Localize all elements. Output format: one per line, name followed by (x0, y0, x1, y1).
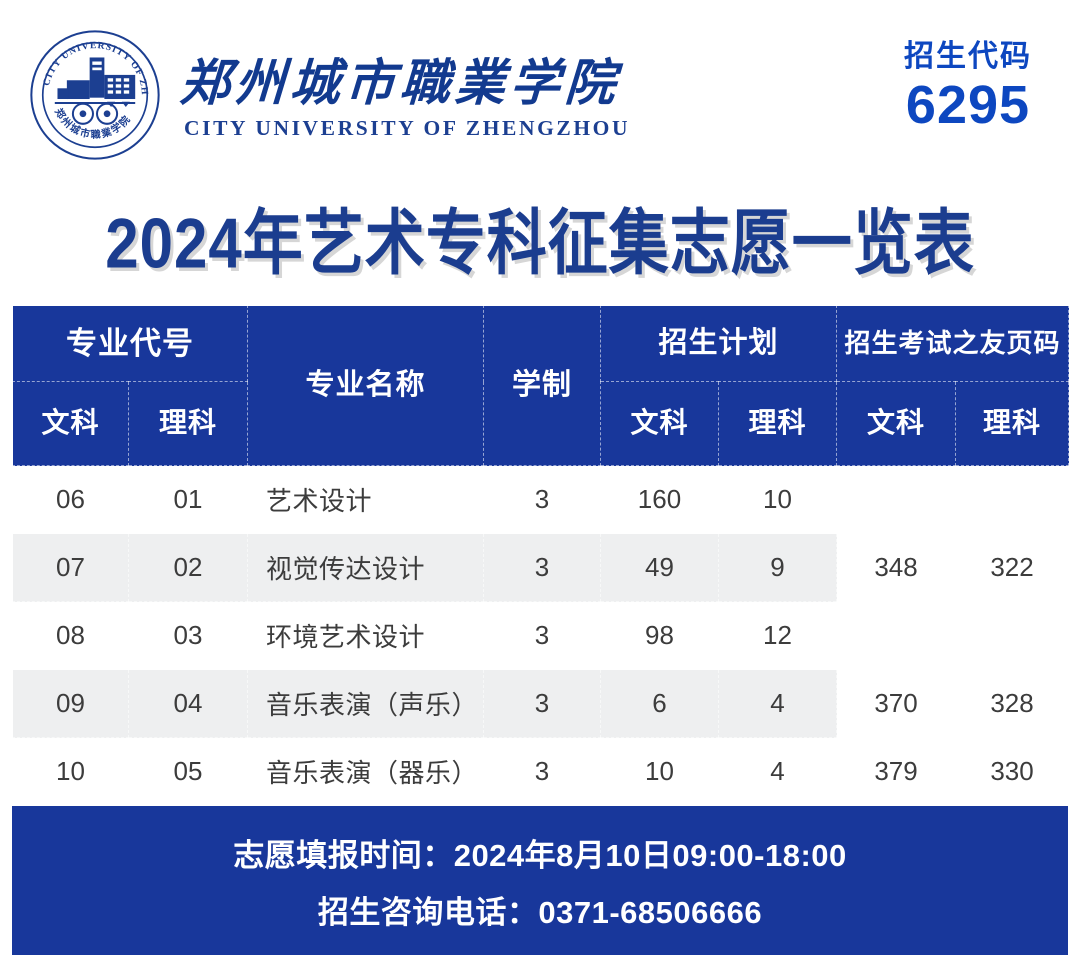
cell-page-li: 330 (956, 738, 1069, 806)
cell-plan-li: 4 (719, 738, 837, 806)
cell-plan-li: 12 (719, 602, 837, 670)
admission-code-value: 6295 (904, 78, 1032, 132)
table-body: 0601艺术设计3160103483220702视觉传达设计34990803环境… (13, 466, 1069, 806)
cell-code-li: 01 (129, 466, 248, 534)
admission-code-block: 招生代码 6295 (904, 42, 1032, 132)
cell-code-li: 02 (129, 534, 248, 602)
header-plan-wen: 文科 (601, 382, 719, 466)
masthead: CITY UNIVERSITY OF ZHENGZHOU 郑州城市職業学院 (0, 0, 1080, 175)
university-name-cn: 郑州城市職業学院 (179, 56, 632, 110)
cell-page-wen: 370 (837, 670, 956, 738)
header-page-wen: 文科 (837, 382, 956, 466)
cell-major-name: 音乐表演（声乐） (248, 670, 484, 738)
cell-study-length: 3 (484, 670, 601, 738)
cell-code-wen: 07 (13, 534, 129, 602)
cell-plan-wen: 6 (601, 670, 719, 738)
cell-code-li: 04 (129, 670, 248, 738)
cell-major-name: 视觉传达设计 (248, 534, 484, 602)
header-page-li: 理科 (956, 382, 1069, 466)
cell-plan-li: 9 (719, 534, 837, 602)
admission-code-label: 招生代码 (904, 42, 1032, 72)
table-row: 0601艺术设计316010348322 (13, 466, 1069, 534)
cell-major-name: 环境艺术设计 (248, 602, 484, 670)
header-plan-li: 理科 (719, 382, 837, 466)
cell-page-li: 322 (956, 466, 1069, 670)
header-major-code-li: 理科 (129, 382, 248, 466)
page-title: 2024年艺术专科征集志愿一览表 (0, 186, 1080, 289)
header-major-code-wen: 文科 (13, 382, 129, 466)
table-row: 0904音乐表演（声乐）364370328 (13, 670, 1069, 738)
footer-bar: 志愿填报时间：2024年8月10日09:00-18:00 招生咨询电话：0371… (12, 807, 1068, 955)
application-time-line: 志愿填报时间：2024年8月10日09:00-18:00 (233, 830, 847, 875)
poster-page: CITY UNIVERSITY OF ZHENGZHOU 郑州城市職業学院 (0, 0, 1080, 971)
cell-code-li: 05 (129, 738, 248, 806)
cell-major-name: 音乐表演（器乐） (248, 738, 484, 806)
cell-study-length: 3 (484, 466, 601, 534)
cell-plan-wen: 160 (601, 466, 719, 534)
cell-page-wen: 348 (837, 466, 956, 670)
cell-code-wen: 08 (13, 602, 129, 670)
university-crest-icon: CITY UNIVERSITY OF ZHENGZHOU 郑州城市職業学院 (28, 28, 162, 162)
cell-plan-wen: 10 (601, 738, 719, 806)
cell-plan-wen: 98 (601, 602, 719, 670)
cell-plan-li: 10 (719, 466, 837, 534)
cell-plan-li: 4 (719, 670, 837, 738)
table-row: 1005音乐表演（器乐）3104379330 (13, 738, 1069, 806)
plan-table-wrapper: 专业代号 专业名称 学制 招生计划 招生考试之友页码 文科 理科 文科 理科 文… (12, 305, 1068, 810)
cell-page-li: 328 (956, 670, 1069, 738)
cell-code-wen: 06 (13, 466, 129, 534)
header-page: 招生考试之友页码 (837, 306, 1069, 382)
cell-code-wen: 10 (13, 738, 129, 806)
header-major-code: 专业代号 (13, 306, 248, 382)
university-name-en: CITY UNIVERSITY OF ZHENGZHOU (180, 116, 630, 141)
cell-study-length: 3 (484, 534, 601, 602)
cell-plan-wen: 49 (601, 534, 719, 602)
cell-page-wen: 379 (837, 738, 956, 806)
cell-study-length: 3 (484, 738, 601, 806)
wordmark: 郑州城市職業学院 CITY UNIVERSITY OF ZHENGZHOU (180, 50, 630, 141)
cell-major-name: 艺术设计 (248, 466, 484, 534)
header-plan: 招生计划 (601, 306, 837, 382)
header-major-name: 专业名称 (248, 306, 484, 466)
table-header: 专业代号 专业名称 学制 招生计划 招生考试之友页码 文科 理科 文科 理科 文… (13, 306, 1069, 466)
cell-code-li: 03 (129, 602, 248, 670)
admission-plan-table: 专业代号 专业名称 学制 招生计划 招生考试之友页码 文科 理科 文科 理科 文… (12, 305, 1069, 806)
cell-study-length: 3 (484, 602, 601, 670)
brand-block: CITY UNIVERSITY OF ZHENGZHOU 郑州城市職業学院 (28, 28, 630, 162)
header-study-length: 学制 (484, 306, 601, 466)
hotline-line: 招生咨询电话：0371-68506666 (318, 887, 762, 932)
cell-code-wen: 09 (13, 670, 129, 738)
